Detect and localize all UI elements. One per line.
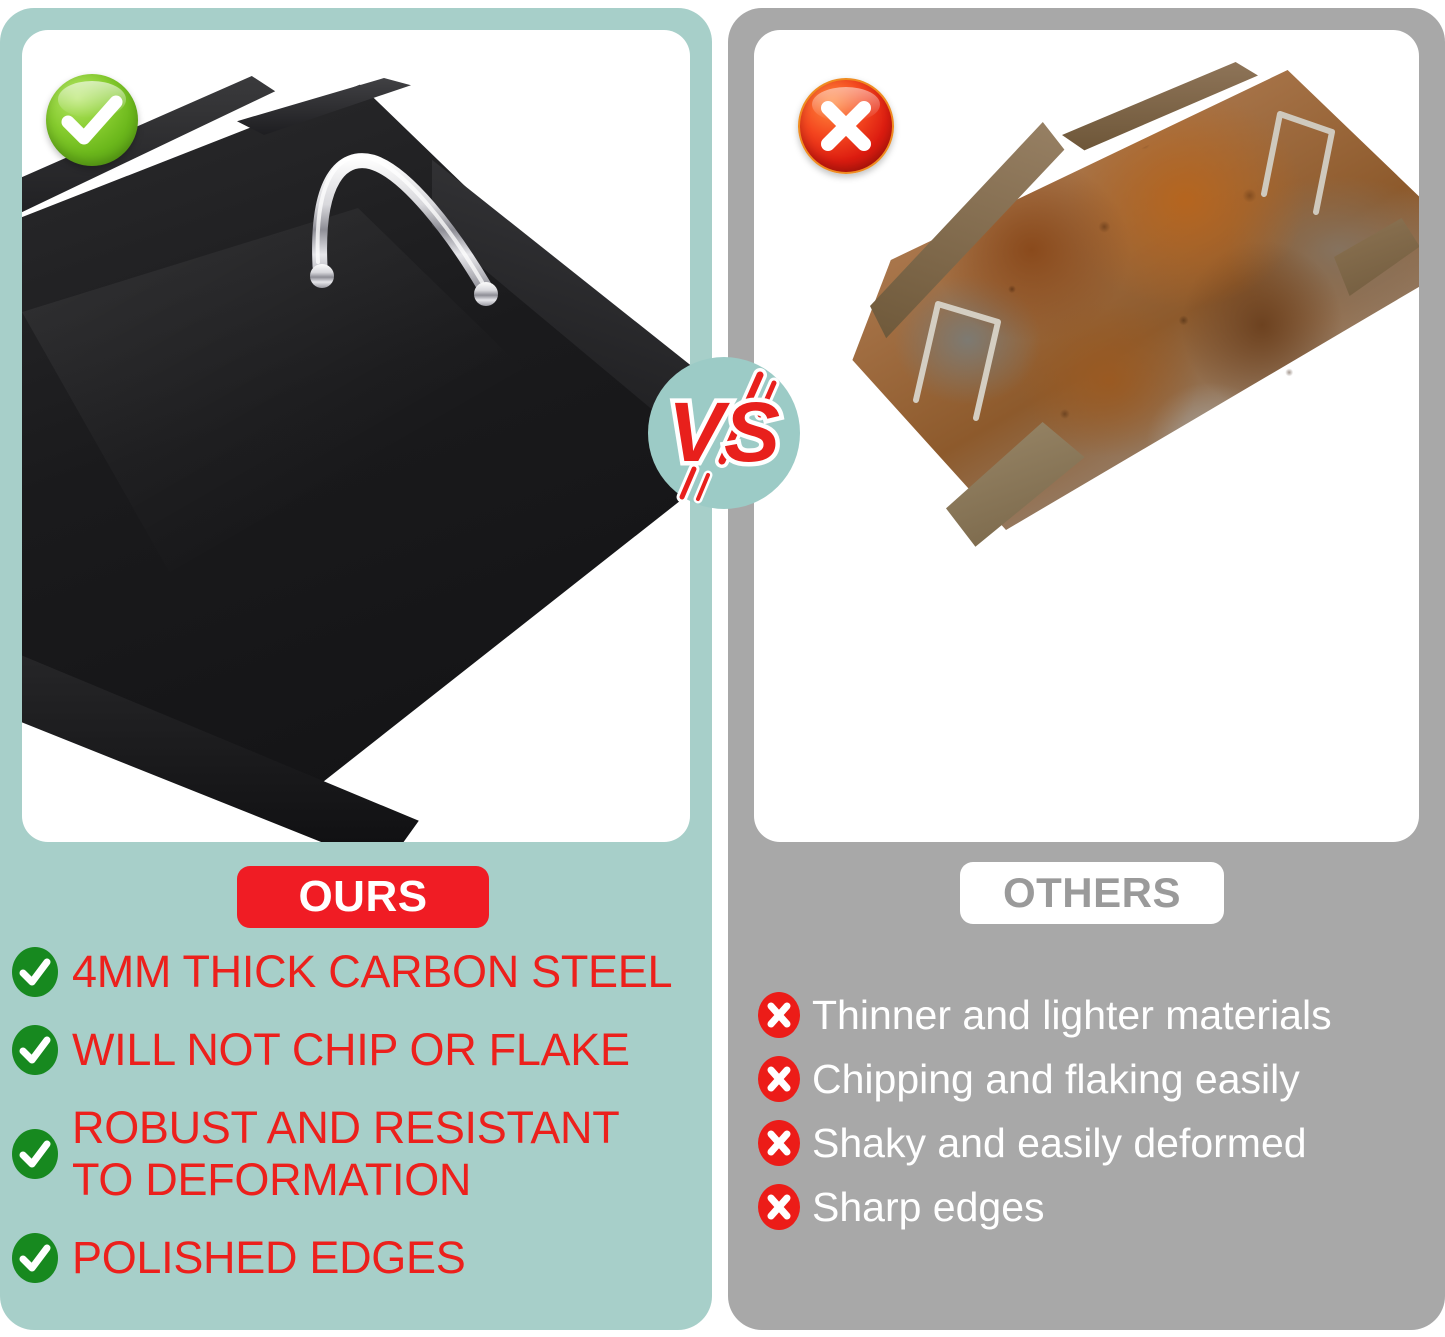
list-item-line: 4MM THICK CARBON STEEL (72, 946, 672, 998)
cross-icon (758, 1056, 800, 1102)
list-item-line: Sharp edges (812, 1182, 1045, 1232)
list-item-text: POLISHED EDGES (72, 1232, 465, 1284)
check-circle-icon (46, 74, 138, 166)
cross-icon (758, 1184, 800, 1230)
others-panel: OTHERS Thinner and lighter materials Chi… (728, 8, 1445, 1330)
cross-circle-icon (798, 78, 894, 174)
list-item-line: WILL NOT CHIP OR FLAKE (72, 1024, 630, 1076)
check-icon (12, 1233, 58, 1283)
ours-title-badge: OURS (237, 866, 489, 928)
cross-icon (758, 1120, 800, 1166)
comparison-infographic: OURS 4MM THICK CARBON STEEL WILL NOT CHI… (0, 0, 1445, 1337)
wire-handle-icon (894, 282, 1044, 432)
wire-handle-icon (1246, 98, 1376, 228)
list-item: Chipping and flaking easily (758, 1054, 1438, 1104)
list-item: ROBUST AND RESISTANT TO DEFORMATION (12, 1102, 702, 1206)
list-item-text: Chipping and flaking easily (812, 1054, 1300, 1104)
others-product-photo-card (754, 30, 1419, 842)
list-item: 4MM THICK CARBON STEEL (12, 946, 702, 998)
list-item: Shaky and easily deformed (758, 1118, 1438, 1168)
check-icon (12, 1129, 58, 1179)
list-item-line: Chipping and flaking easily (812, 1054, 1300, 1104)
vs-badge: VS (648, 357, 800, 509)
list-item-text: Thinner and lighter materials (812, 990, 1332, 1040)
list-item: POLISHED EDGES (12, 1232, 702, 1284)
ours-panel: OURS 4MM THICK CARBON STEEL WILL NOT CHI… (0, 8, 712, 1330)
others-feature-list: Thinner and lighter materials Chipping a… (758, 990, 1438, 1232)
list-item: WILL NOT CHIP OR FLAKE (12, 1024, 702, 1076)
svg-text:VS: VS (668, 385, 780, 479)
list-item: Thinner and lighter materials (758, 990, 1438, 1040)
list-item-line: ROBUST AND RESISTANT (72, 1102, 619, 1154)
list-item-text: ROBUST AND RESISTANT TO DEFORMATION (72, 1102, 619, 1206)
ours-feature-list: 4MM THICK CARBON STEEL WILL NOT CHIP OR … (12, 946, 702, 1310)
list-item-text: WILL NOT CHIP OR FLAKE (72, 1024, 630, 1076)
others-title-badge: OTHERS (960, 862, 1224, 924)
list-item-text: Shaky and easily deformed (812, 1118, 1307, 1168)
chrome-handle-icon (302, 136, 522, 336)
vs-label-graphic: VS (648, 357, 800, 509)
ours-product-photo-card (22, 30, 690, 842)
list-item-text: Sharp edges (812, 1182, 1045, 1232)
list-item-text: 4MM THICK CARBON STEEL (72, 946, 672, 998)
list-item: Sharp edges (758, 1182, 1438, 1232)
list-item-line: POLISHED EDGES (72, 1232, 465, 1284)
list-item-line: Thinner and lighter materials (812, 990, 1332, 1040)
list-item-line: TO DEFORMATION (72, 1154, 619, 1206)
cross-icon (758, 992, 800, 1038)
check-icon (12, 947, 58, 997)
check-icon (12, 1025, 58, 1075)
list-item-line: Shaky and easily deformed (812, 1118, 1307, 1168)
